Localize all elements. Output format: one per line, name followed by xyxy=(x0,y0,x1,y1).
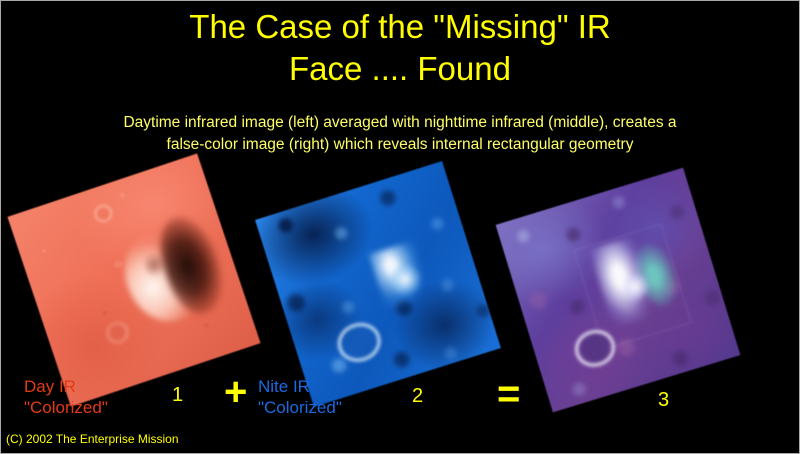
panel-number-1: 1 xyxy=(172,385,183,405)
equals-operator-icon: = xyxy=(497,374,520,414)
slide-canvas: The Case of the "Missing" IR Face .... F… xyxy=(0,0,800,454)
image-panel-false-color-sum xyxy=(496,168,741,413)
caption-day-ir-line-2: "Colorized" xyxy=(24,397,108,418)
image-panel-day-ir xyxy=(7,153,260,406)
page-subtitle: Daytime infrared image (left) averaged w… xyxy=(0,112,800,156)
caption-day-ir-line-1: Day IR xyxy=(24,376,108,397)
panel-number-2: 2 xyxy=(412,386,423,406)
subtitle-line-2: false-color image (right) which reveals … xyxy=(0,134,800,156)
title-line-1: The Case of the "Missing" IR xyxy=(0,6,800,48)
title-line-2: Face .... Found xyxy=(0,48,800,90)
caption-nite-ir-line-2: "Colorized" xyxy=(258,397,342,418)
subtitle-line-1: Daytime infrared image (left) averaged w… xyxy=(0,112,800,134)
panel-number-3: 3 xyxy=(658,390,669,410)
page-title: The Case of the "Missing" IR Face .... F… xyxy=(0,6,800,90)
caption-nite-ir-line-1: Nite IR xyxy=(258,376,342,397)
caption-nite-ir: Nite IR "Colorized" xyxy=(258,376,342,418)
image-panel-nite-ir xyxy=(255,161,501,407)
copyright-notice: (C) 2002 The Enterprise Mission xyxy=(6,432,179,446)
plus-operator-icon: + xyxy=(224,372,247,412)
caption-day-ir: Day IR "Colorized" xyxy=(24,376,108,418)
